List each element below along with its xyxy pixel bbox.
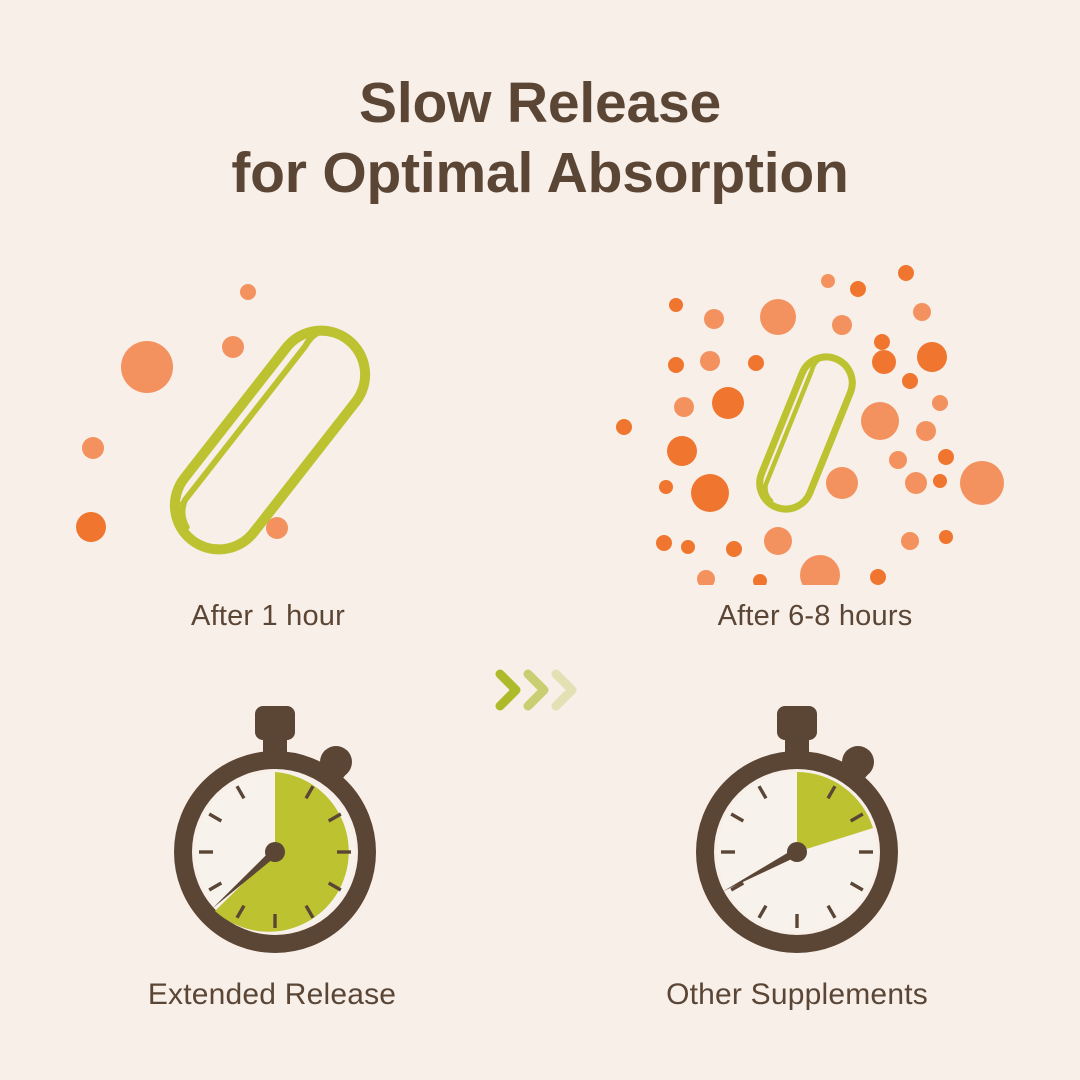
capsule-comparison-row bbox=[0, 255, 1080, 655]
caption-other-supplements: Other Supplements bbox=[577, 978, 1017, 1012]
caption-after-1-hour: After 1 hour bbox=[58, 600, 478, 633]
stopwatch-icon bbox=[150, 700, 400, 960]
capsule-panel-after-1-hour bbox=[70, 255, 470, 585]
dissolving-particles-icon bbox=[76, 284, 288, 585]
capsule-icon-large bbox=[70, 255, 470, 585]
capsule-icon-small bbox=[610, 255, 1010, 585]
dissolving-particles-icon bbox=[616, 265, 1004, 585]
stopwatch-panel-other-supplements bbox=[672, 700, 922, 960]
infographic-canvas: Slow Release for Optimal Absorption bbox=[0, 0, 1080, 1080]
stopwatch-hub bbox=[787, 842, 807, 862]
caption-after-6-8-hours: After 6-8 hours bbox=[605, 600, 1025, 633]
stopwatch-hub bbox=[265, 842, 285, 862]
capsule-panel-after-6-8-hours bbox=[610, 255, 1010, 585]
stopwatch-icon bbox=[672, 700, 922, 960]
caption-extended-release: Extended Release bbox=[52, 978, 492, 1012]
stopwatch-panel-extended-release bbox=[150, 700, 400, 960]
stopwatch-comparison-row bbox=[0, 700, 1080, 1000]
page-title: Slow Release for Optimal Absorption bbox=[0, 68, 1080, 208]
title-line-2: for Optimal Absorption bbox=[0, 138, 1080, 208]
title-line-1: Slow Release bbox=[0, 68, 1080, 138]
